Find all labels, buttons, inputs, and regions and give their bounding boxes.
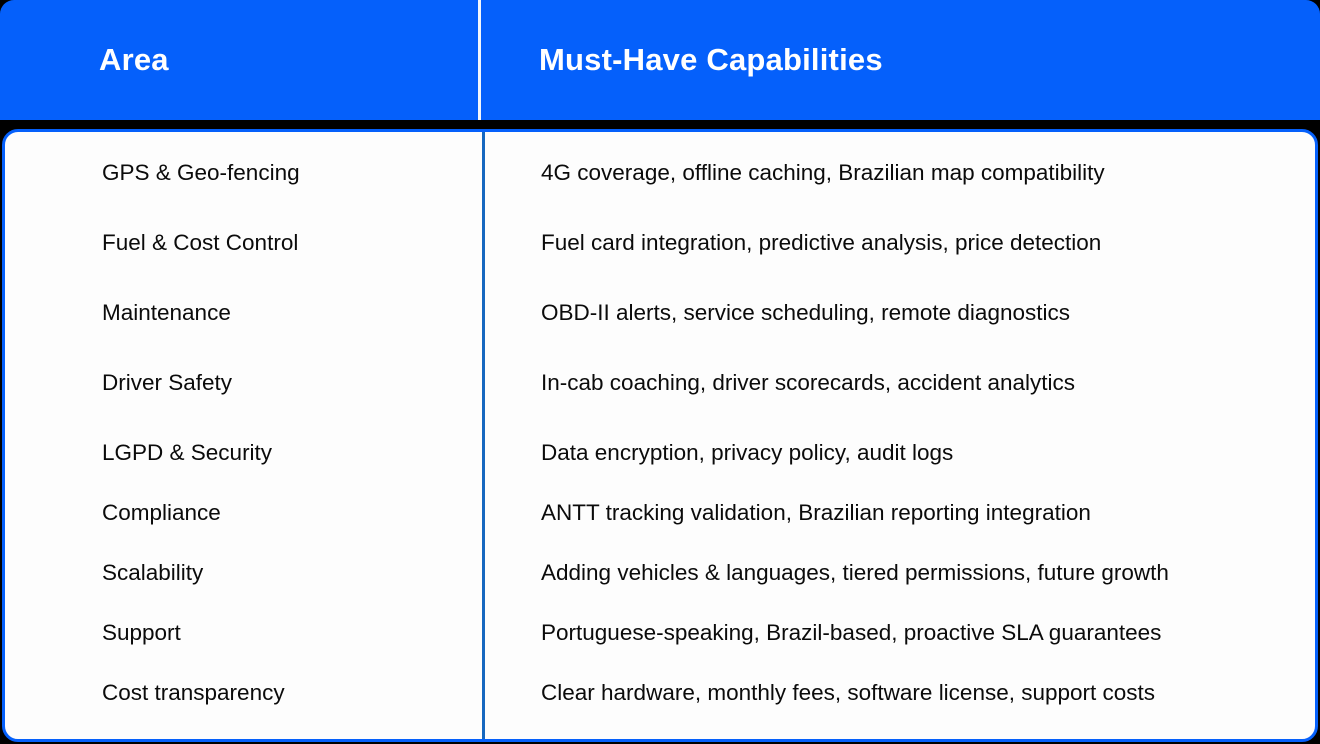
table-header: Area Must-Have Capabilities	[0, 0, 1320, 120]
cell-capabilities: Data encryption, privacy policy, audit l…	[481, 436, 1315, 470]
table-row: LGPD & Security Data encryption, privacy…	[5, 436, 1315, 470]
cell-area: Maintenance	[5, 296, 481, 330]
cell-capabilities: In-cab coaching, driver scorecards, acci…	[481, 366, 1315, 400]
cell-area: Driver Safety	[5, 366, 481, 400]
table-header-row: Area Must-Have Capabilities	[0, 0, 1320, 120]
cell-capabilities: Portuguese-speaking, Brazil-based, proac…	[481, 616, 1315, 650]
cell-area: Compliance	[5, 496, 481, 530]
cell-capabilities: Fuel card integration, predictive analys…	[481, 226, 1315, 260]
cell-area: GPS & Geo-fencing	[5, 156, 481, 190]
capabilities-table: Area Must-Have Capabilities GPS & Geo-fe…	[0, 0, 1320, 744]
cell-capabilities: ANTT tracking validation, Brazilian repo…	[481, 496, 1315, 530]
cell-capabilities: Clear hardware, monthly fees, software l…	[481, 676, 1315, 710]
table-row-list: GPS & Geo-fencing 4G coverage, offline c…	[5, 132, 1315, 739]
header-column-divider	[478, 0, 481, 120]
table-row: Support Portuguese-speaking, Brazil-base…	[5, 616, 1315, 650]
cell-area: Cost transparency	[5, 676, 481, 710]
table-row: Cost transparency Clear hardware, monthl…	[5, 676, 1315, 710]
cell-area: Fuel & Cost Control	[5, 226, 481, 260]
cell-capabilities: Adding vehicles & languages, tiered perm…	[481, 556, 1315, 590]
cell-area: LGPD & Security	[5, 436, 481, 470]
column-header-capabilities: Must-Have Capabilities	[479, 0, 1320, 120]
cell-capabilities: OBD-II alerts, service scheduling, remot…	[481, 296, 1315, 330]
table-row: Compliance ANTT tracking validation, Bra…	[5, 496, 1315, 530]
table-body: GPS & Geo-fencing 4G coverage, offline c…	[2, 129, 1318, 742]
column-header-area: Area	[0, 0, 479, 120]
cell-area: Support	[5, 616, 481, 650]
table-row: GPS & Geo-fencing 4G coverage, offline c…	[5, 156, 1315, 190]
table-row: Driver Safety In-cab coaching, driver sc…	[5, 366, 1315, 400]
table-row: Scalability Adding vehicles & languages,…	[5, 556, 1315, 590]
header-body-separator	[0, 120, 1320, 129]
cell-area: Scalability	[5, 556, 481, 590]
cell-capabilities: 4G coverage, offline caching, Brazilian …	[481, 156, 1315, 190]
table-row: Maintenance OBD-II alerts, service sched…	[5, 296, 1315, 330]
table-row: Fuel & Cost Control Fuel card integratio…	[5, 226, 1315, 260]
